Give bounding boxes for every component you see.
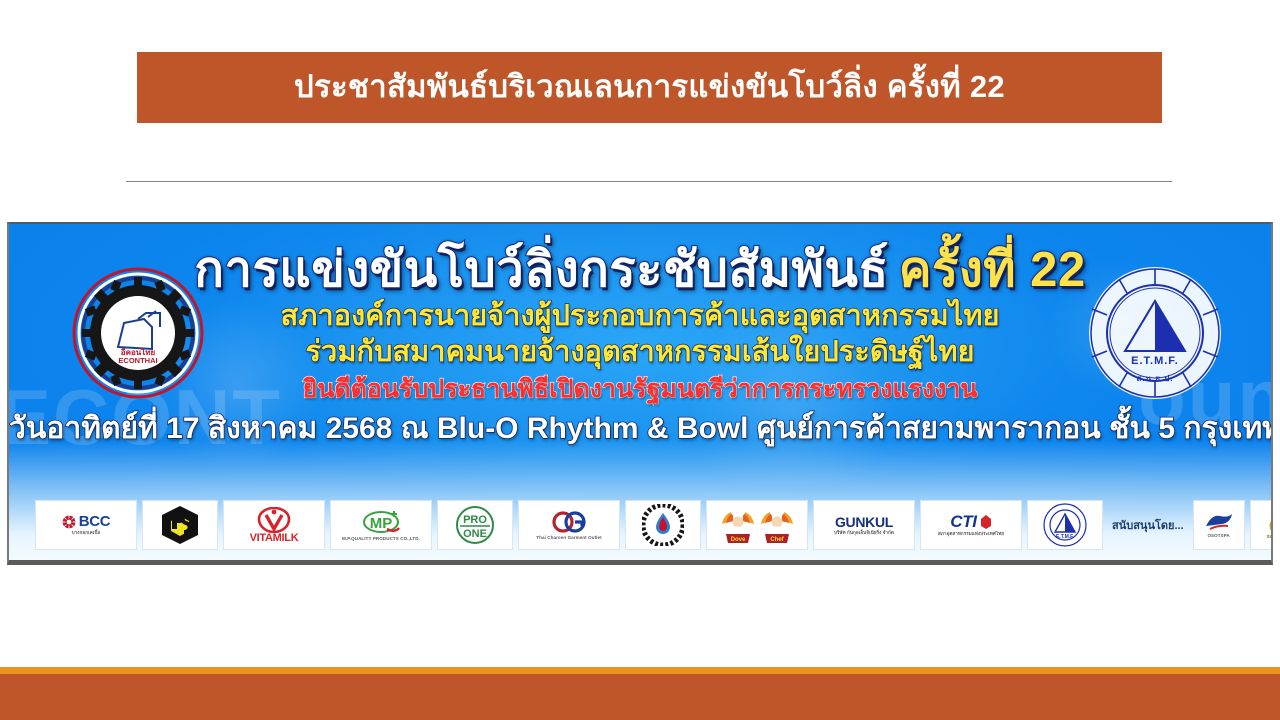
sponsor-sublabel: สภาอุตสาหกรรมแห่งประเทศไทย	[938, 532, 1004, 537]
etmf-small-mark-icon: E.T.M.F.	[1043, 503, 1087, 547]
singha-lion-icon	[1263, 511, 1273, 533]
sponsor-logo-vitamilk: VITAMILK	[223, 500, 325, 550]
chef-mascot-icon: Chef	[759, 504, 795, 546]
banner-welcome-line: ยินดีต้อนรับประธานพิธีเปิดงานรัฐมนตรีว่า…	[9, 377, 1271, 402]
proone-mark-icon: PRO ONE	[452, 505, 498, 545]
cg-mark-icon	[550, 510, 588, 534]
sponsor-logo-emblem	[625, 500, 701, 550]
page-title: ประชาสัมพันธ์บริเวณเลนการแข่งขันโบว์ลิ่ง…	[294, 70, 1005, 104]
sponsor-label: CTI	[950, 513, 976, 530]
sponsor-label: BCC	[79, 514, 111, 529]
vitamilk-mark-icon	[257, 507, 291, 533]
sponsor-logo-cti: CTI สภาอุตสาหกรรมแห่งประเทศไทย	[920, 500, 1022, 550]
sponsor-logo-strip: BCC บางกอกเคเบิ้ล VITAMILK	[9, 498, 1271, 552]
sponsor-logo-cg: Thai Charoen Garment Outlet	[518, 500, 620, 550]
sponsor-logo-gunkul: GUNKUL บริษัท กันกุลเอ็นจิเนียริ่ง จำกัด	[813, 500, 915, 550]
svg-text:Dove: Dove	[730, 537, 745, 543]
bottom-accent-strip	[0, 667, 1280, 674]
svg-text:ONE: ONE	[463, 528, 487, 540]
svg-text:Chef: Chef	[770, 537, 784, 543]
sponsor-logo-mp: MP M.P.QUALITY PRODUCTS CO.,LTD.	[330, 500, 432, 550]
ps-mark-icon	[158, 505, 202, 545]
svg-text:PRO: PRO	[463, 514, 487, 526]
sponsor-sublabel: บริษัท กันกุลเอ็นจิเนียริ่ง จำกัด	[834, 531, 894, 536]
supported-by-label: สนับสนุนโดย...	[1108, 516, 1188, 534]
svg-text:E.T.M.F.: E.T.M.F.	[1056, 534, 1075, 540]
cti-mark-icon	[980, 515, 992, 529]
sponsor-sublabel: M.P.QUALITY PRODUCTS CO.,LTD.	[342, 537, 420, 542]
banner-headline-main: การแข่งขันโบว์ลิ่งกระชับสัมพันธ์	[194, 243, 888, 297]
supported-by-group: สนับสนุนโดย...	[1108, 501, 1188, 549]
slide-title-bar: ประชาสัมพันธ์บริเวณเลนการแข่งขันโบว์ลิ่ง…	[137, 52, 1162, 123]
sponsor-sublabel: บางกอกเคเบิ้ล	[72, 531, 101, 536]
sponsor-sublabel: Thai Charoen Garment Outlet	[536, 536, 601, 541]
banner-venue-line: วันอาทิตย์ที่ 17 สิงหาคม 2568 ณ Blu-O Rh…	[9, 414, 1271, 444]
osotspa-mark-icon	[1204, 512, 1234, 532]
bottom-color-band	[0, 674, 1280, 720]
supporter-logo-osotspa: OSOTSPA	[1193, 500, 1245, 550]
sponsor-logo-ps	[142, 500, 218, 550]
emblem-mark-icon	[642, 504, 684, 546]
supporter-label: SINGHA	[1267, 535, 1273, 540]
sponsor-logo-chef-pair: Dove Chef	[706, 500, 808, 550]
banner-organizer-line-2: ร่วมกับสมาคมนายจ้างอุตสาหกรรมเส้นใยประดิ…	[9, 338, 1271, 367]
banner-headline: การแข่งขันโบว์ลิ่งกระชับสัมพันธ์ครั้งที่…	[9, 246, 1271, 295]
sponsor-logo-etmf-small: E.T.M.F.	[1027, 500, 1103, 550]
sponsor-label: VITAMILK	[250, 533, 299, 544]
supporter-logo-singha: SINGHA	[1250, 500, 1273, 550]
banner-text-block: การแข่งขันโบว์ลิ่งกระชับสัมพันธ์ครั้งที่…	[9, 246, 1271, 444]
sponsor-logo-pro-one: PRO ONE	[437, 500, 513, 550]
chef-mascot-icon: Dove	[720, 504, 756, 546]
sponsor-logo-bcc: BCC บางกอกเคเบิ้ล	[35, 500, 137, 550]
banner-organizer-line-1: สภาองค์การนายจ้างผู้ประกอบการค้าและอุตสา…	[9, 302, 1271, 331]
supporter-label: OSOTSPA	[1207, 534, 1229, 539]
bcc-mark-icon	[62, 515, 76, 529]
banner-headline-edition: ครั้งที่ 22	[899, 243, 1086, 297]
sponsor-label: GUNKUL	[835, 515, 893, 529]
event-banner-image: ECONT oun	[7, 222, 1273, 565]
divider-rule	[126, 181, 1172, 182]
mp-mark-icon: MP	[361, 509, 401, 535]
